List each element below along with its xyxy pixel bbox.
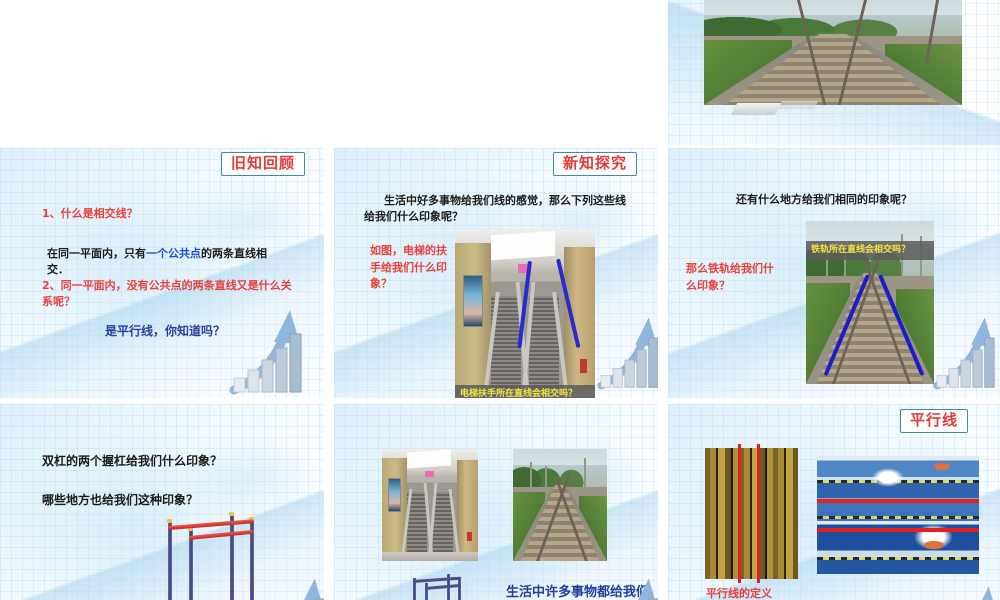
photo-shadow-block [731, 103, 781, 115]
grip-bar-lower [425, 584, 461, 590]
question-1: 1、什么是相交线？ [42, 206, 138, 222]
slide-new-explore[interactable]: 新知探究 生活中好多事物给我们线的感觉，那么下列这些线给我们什么印象呢？ 如图，… [334, 148, 658, 398]
railway-photo [704, 0, 962, 105]
wood-stripes-photo [705, 448, 798, 579]
parallel-line-overlay-1 [817, 499, 979, 503]
side-note: 那么铁轨给我们什么印象？ [686, 261, 778, 294]
swimming-pool-photo [817, 456, 979, 574]
photo-caption: 电梯扶手所在直线会相交吗？ [455, 385, 595, 398]
slide-grid: 旧知回顾 1、什么是相交线？ 在同一平面内，只有一个公共点的两条直线相交． 2、… [0, 0, 1000, 600]
slide-railway[interactable]: 还有什么地方给我们相同的印象呢？ 那么铁轨给我们什么印象？ 铁轨所在直线会相交吗… [668, 148, 1000, 398]
grip-bar-upper [168, 519, 254, 530]
question-2: 哪些地方也给我们这种印象？ [42, 492, 198, 509]
photo-caption: 铁轨所在直线会相交吗？ [806, 241, 934, 260]
lead-text: 生活中好多事物给我们线的感觉，那么下列这些线给我们什么印象呢？ [364, 193, 634, 225]
answer-1-pre: 在同一平面内，只有 [47, 247, 146, 260]
slide-title-chip-old-review: 旧知回顾 [221, 152, 305, 176]
slide-title-chip-new-explore: 新知探究 [553, 152, 637, 176]
growth-arrow-icon [596, 303, 658, 395]
parallel-bars-illustration [409, 572, 464, 600]
slide-parallel-bars[interactable]: 双杠的两个握杠给我们什么印象？ 哪些地方也给我们这种印象？ [0, 404, 324, 600]
answer-1-highlight: 一个公共点 [146, 247, 201, 260]
summary-caption: 平行线的定义 [706, 586, 772, 600]
growth-arrow-icon [262, 564, 324, 600]
parallel-bars-illustration [160, 512, 270, 600]
escalator-photo [382, 449, 478, 561]
parallel-line-overlay-1 [738, 444, 741, 583]
slide-summary[interactable]: 生活中许多事物都给我们 [334, 404, 658, 600]
slide-parallel-lines[interactable]: 平行线 平行线的定义 [668, 404, 1000, 600]
slide-old-review[interactable]: 旧知回顾 1、什么是相交线？ 在同一平面内，只有一个公共点的两条直线相交． 2、… [0, 148, 324, 398]
parallel-line-overlay-2 [757, 444, 760, 583]
escalator-photo: 电梯扶手所在直线会相交吗？ [455, 229, 595, 398]
answer-2: 是平行线，你知道吗？ [105, 323, 225, 340]
railway-photo: 铁轨所在直线会相交吗？ [806, 221, 934, 384]
growth-arrow-icon [228, 298, 322, 396]
railway-photo [513, 449, 607, 561]
slide-top-right[interactable] [668, 0, 1000, 145]
lead-text: 还有什么地方给我们相同的印象呢？ [736, 192, 912, 208]
growth-arrow-icon [596, 564, 658, 600]
photo-shadow-block-2 [778, 101, 818, 109]
side-note: 如图，电梯的扶手给我们什么印象？ [370, 243, 448, 293]
slide-title-chip-parallel-lines: 平行线 [900, 409, 968, 433]
answer-1: 在同一平面内，只有一个公共点的两条直线相交． [47, 230, 287, 278]
parallel-line-overlay-2 [817, 528, 979, 532]
grip-bar-upper [413, 577, 461, 583]
question-1: 双杠的两个握杠给我们什么印象？ [42, 453, 222, 470]
growth-arrow-icon [932, 303, 1000, 395]
growth-arrow-icon [936, 572, 1000, 600]
grip-bar-lower [189, 530, 253, 540]
